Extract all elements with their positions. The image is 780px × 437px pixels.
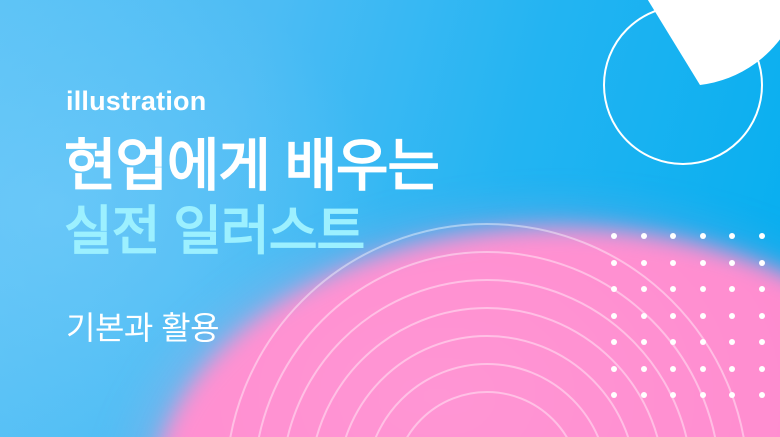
grid-dot <box>641 260 647 266</box>
grid-dot <box>759 339 765 345</box>
grid-dot <box>700 366 706 372</box>
grid-dot <box>729 339 735 345</box>
grid-dot <box>729 313 735 319</box>
grid-dot <box>641 233 647 239</box>
grid-dot <box>611 392 617 398</box>
grid-dot <box>641 339 647 345</box>
grid-dot <box>670 260 676 266</box>
grid-dot <box>700 286 706 292</box>
headline-line-2: 실전 일러스트 <box>64 204 364 260</box>
course-promo-banner: illustration 현업에게 배우는 실전 일러스트 기본과 활용 <box>0 0 780 437</box>
grid-dot <box>611 233 617 239</box>
grid-dot <box>611 313 617 319</box>
grid-dot <box>611 366 617 372</box>
grid-dot <box>700 233 706 239</box>
subtitle-label: 기본과 활용 <box>66 311 219 346</box>
grid-dot <box>759 366 765 372</box>
grid-dot <box>641 313 647 319</box>
grid-dot <box>670 339 676 345</box>
grid-dot <box>759 286 765 292</box>
grid-dot <box>759 233 765 239</box>
kicker-label: illustration <box>66 88 206 115</box>
grid-dot <box>611 339 617 345</box>
grid-dot <box>670 366 676 372</box>
grid-dot <box>641 366 647 372</box>
grid-dot <box>729 260 735 266</box>
grid-dot <box>611 286 617 292</box>
grid-dot <box>729 286 735 292</box>
grid-dot <box>641 286 647 292</box>
grid-dot <box>729 233 735 239</box>
grid-dot <box>670 286 676 292</box>
grid-dot <box>759 392 765 398</box>
grid-dot <box>611 260 617 266</box>
grid-dot <box>700 339 706 345</box>
grid-dot <box>729 392 735 398</box>
grid-dot <box>670 233 676 239</box>
headline-line-1: 현업에게 배우는 <box>64 137 439 197</box>
grid-dot <box>641 392 647 398</box>
pie-wedge-icon <box>605 0 780 85</box>
grid-dot <box>670 392 676 398</box>
grid-dot <box>759 260 765 266</box>
grid-dot <box>759 313 765 319</box>
grid-dot <box>670 313 676 319</box>
grid-dot <box>729 366 735 372</box>
grid-dot <box>700 313 706 319</box>
grid-dot <box>700 260 706 266</box>
grid-dot <box>700 392 706 398</box>
